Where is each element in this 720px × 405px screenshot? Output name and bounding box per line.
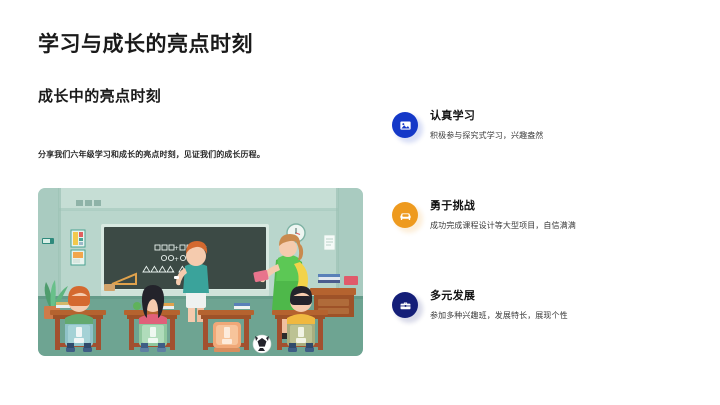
wall-notice [324, 235, 335, 250]
feature-icon-wrap-1 [392, 112, 422, 142]
feature-desc: 参加多种兴趣班，发展特长，展现个性 [430, 310, 568, 322]
feature-text-2: 勇于挑战 成功完成课程设计等大型项目，自信满满 [430, 198, 576, 232]
feature-item-2[interactable]: 勇于挑战 成功完成课程设计等大型项目，自信满满 [392, 198, 692, 288]
classroom-illustration: +=8 +=3 -= [38, 188, 363, 356]
svg-text:+: + [174, 245, 179, 252]
student-2 [139, 285, 167, 352]
feature-item-3[interactable]: 多元发展 参加多种兴趣班，发展特长，展现个性 [392, 288, 692, 378]
image-icon [392, 112, 418, 138]
feature-icon-wrap-3 [392, 292, 422, 322]
sofa-icon [392, 202, 418, 228]
feature-title: 认真学习 [430, 108, 543, 124]
student-1 [65, 286, 93, 352]
feature-icon-wrap-2 [392, 202, 422, 232]
student-4 [287, 286, 315, 352]
feature-title: 勇于挑战 [430, 198, 576, 214]
svg-text:-: - [172, 268, 174, 275]
student-3-backpack [213, 322, 241, 352]
lead-paragraph: 分享我们六年级学习和成长的亮点时刻，见证我们的成长历程。 [38, 149, 265, 160]
slide-root: 学习与成长的亮点时刻 成长中的亮点时刻 分享我们六年级学习和成长的亮点时刻，见证… [0, 0, 720, 405]
feature-desc: 积极参与探究式学习，兴趣盎然 [430, 130, 543, 142]
page-title: 学习与成长的亮点时刻 [38, 28, 253, 58]
wall-vents [76, 200, 101, 206]
section-subtitle: 成长中的亮点时刻 [38, 85, 161, 106]
feature-desc: 成功完成课程设计等大型项目，自信满满 [430, 220, 576, 232]
wall-poster-bottom [71, 250, 85, 265]
wall-poster-top [71, 230, 85, 247]
soccer-ball [253, 335, 271, 353]
briefcase-icon [392, 292, 418, 318]
svg-text:+: + [174, 256, 179, 263]
feature-item-1[interactable]: 认真学习 积极参与探究式学习，兴趣盎然 [392, 108, 692, 198]
feature-title: 多元发展 [430, 288, 568, 304]
feature-text-3: 多元发展 参加多种兴趣班，发展特长，展现个性 [430, 288, 568, 322]
classroom-scene-svg: +=8 +=3 -= [38, 188, 363, 356]
light-switch [42, 238, 54, 244]
feature-list: 认真学习 积极参与探究式学习，兴趣盎然 勇于挑战 [392, 108, 692, 378]
feature-text-1: 认真学习 积极参与探究式学习，兴趣盎然 [430, 108, 543, 142]
chalk-eraser [104, 284, 115, 291]
